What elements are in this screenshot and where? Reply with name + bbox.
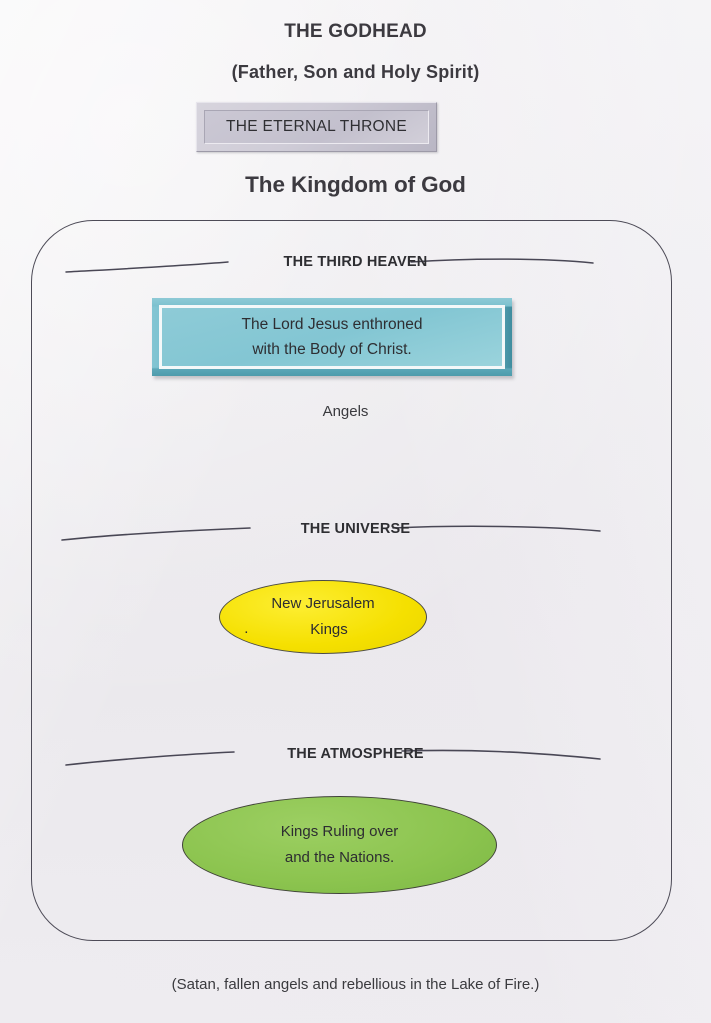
divider-atmosphere: THE ATMOSPHERE (0, 740, 711, 774)
kings-label: Kings (310, 621, 348, 638)
enthroned-box: The Lord Jesus enthroned with the Body o… (152, 298, 512, 376)
new-jerusalem-text-line-2: . Kings (298, 617, 348, 643)
kings-nations-text-line-1: Kings Ruling over (281, 819, 399, 845)
bottom-caption: (Satan, fallen angels and rebellious in … (0, 976, 711, 993)
divider-third-heaven: THE THIRD HEAVEN (0, 248, 711, 282)
divider-atmosphere-label: THE ATMOSPHERE (0, 746, 711, 762)
angels-label: Angels (0, 403, 701, 420)
divider-third-heaven-label: THE THIRD HEAVEN (0, 254, 711, 270)
enthroned-box-inner: The Lord Jesus enthroned with the Body o… (159, 305, 505, 369)
eternal-throne-label: THE ETERNAL THRONE (226, 118, 407, 136)
eternal-throne-box: THE ETERNAL THRONE (196, 102, 437, 152)
kings-nations-ellipse: Kings Ruling over and the Nations. (182, 796, 497, 894)
divider-universe: THE UNIVERSE (0, 515, 711, 549)
stray-dot-mark: . (244, 616, 248, 642)
enthroned-text-line-2: with the Body of Christ. (252, 337, 411, 362)
new-jerusalem-text-line-1: New Jerusalem (271, 591, 374, 617)
divider-universe-label: THE UNIVERSE (0, 521, 711, 537)
page-title: THE GODHEAD (0, 21, 711, 43)
new-jerusalem-ellipse: New Jerusalem . Kings (219, 580, 427, 654)
kings-nations-text-line-2: and the Nations. (285, 845, 394, 871)
godhead-subtitle: (Father, Son and Holy Spirit) (0, 62, 711, 83)
eternal-throne-bevel: THE ETERNAL THRONE (204, 110, 429, 144)
enthroned-text-line-1: The Lord Jesus enthroned (242, 312, 423, 337)
kingdom-of-god-title: The Kingdom of God (0, 172, 711, 198)
diagram-stage: THE GODHEAD (Father, Son and Holy Spirit… (0, 0, 711, 1023)
